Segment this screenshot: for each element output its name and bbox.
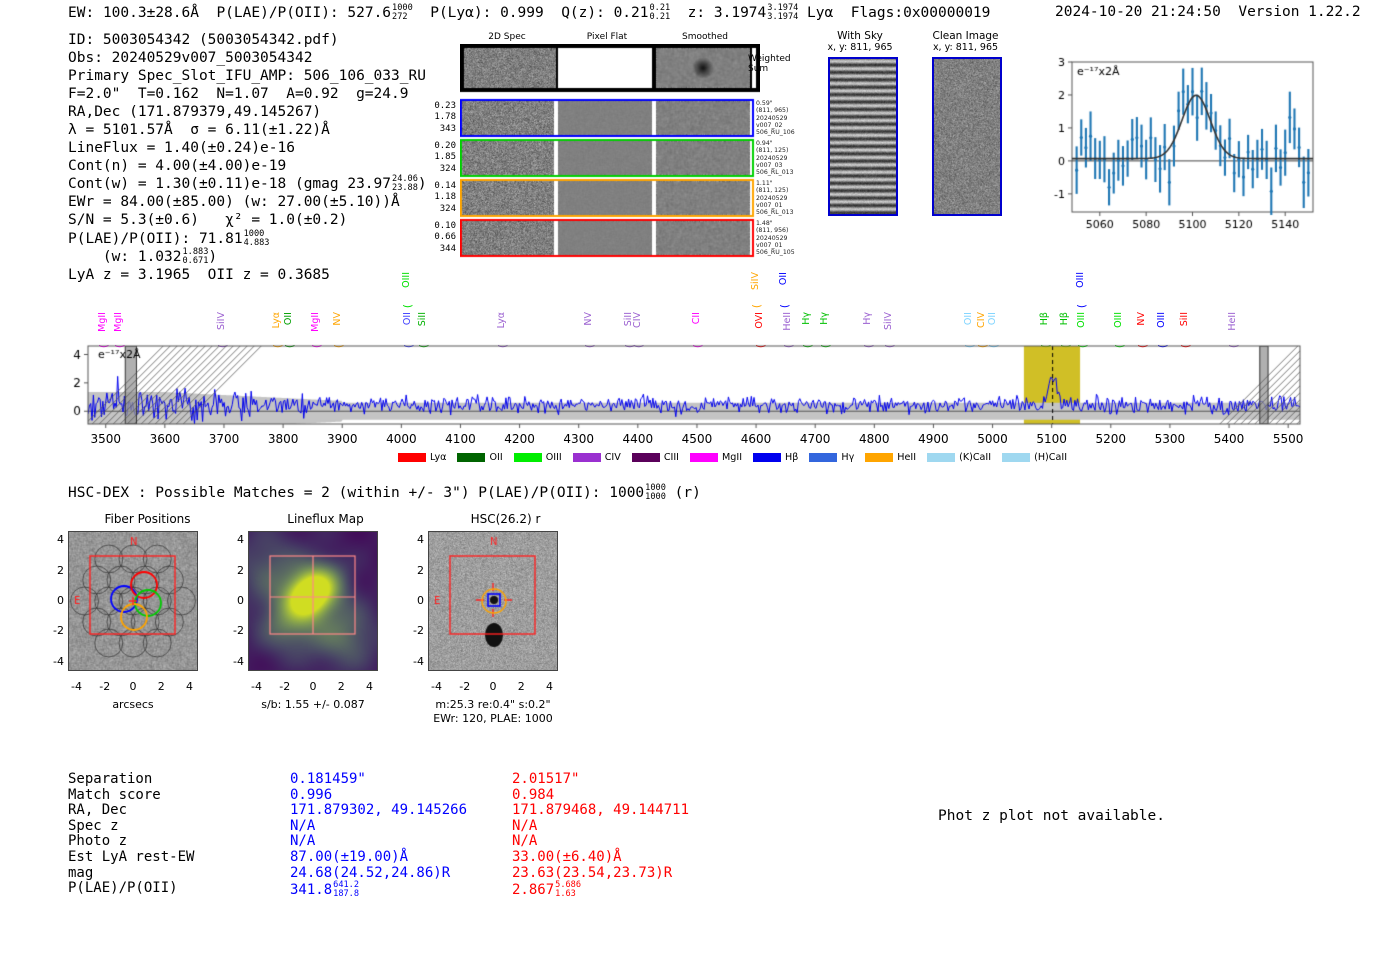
spectrum-xtick: 5300 <box>1146 432 1194 446</box>
match2-value: 0.984 <box>512 788 812 804</box>
qz-label: Q(z): <box>561 5 605 21</box>
emission-line-label: SiIV <box>216 312 227 330</box>
param-ewr: EWr = 84.00(±85.00) (w: 27.00(±5.10))Å <box>68 193 427 211</box>
table-row: Separation0.181459"2.01517" <box>68 772 812 788</box>
legend-label: Hβ <box>785 452 798 463</box>
match-table: Separation0.181459"2.01517"Match score0.… <box>68 772 812 897</box>
clean-image <box>932 57 1002 216</box>
emission-line-label: OII <box>987 312 998 325</box>
spectrum-xtick: 5400 <box>1205 432 1253 446</box>
caption-arcsecs: arcsecs <box>68 698 198 711</box>
emission-line-label: Hγ <box>801 312 812 325</box>
image-xtick: 4 <box>536 680 564 693</box>
fiber-left-values: 0.141.18324 <box>422 181 456 215</box>
z-label: z: <box>688 5 705 21</box>
param-plae-close: ) <box>208 249 217 265</box>
legend-item: Lyα <box>398 452 446 463</box>
image-xtick: -2 <box>91 680 119 693</box>
plya-value: 0.999 <box>500 5 544 21</box>
param-sn: S/N = 5.3(±0.6) χ² = 1.0(±0.2) <box>68 211 427 229</box>
emission-line-label: OIII <box>1076 312 1087 328</box>
match1-value: 0.181459" <box>290 772 512 788</box>
emission-line-label: MgII <box>97 312 108 332</box>
param-plae-lower: 4.883 <box>244 239 270 248</box>
spec2d-image-strips <box>460 44 760 259</box>
ew-value: 100.3±28.6Å <box>103 5 199 21</box>
legend-label: MgII <box>722 452 742 463</box>
match1-value: 0.996 <box>290 788 512 804</box>
legend-item: (K)CaII <box>927 452 991 463</box>
legend-item: OIII <box>514 452 562 463</box>
spec2d-title-2dspec: 2D Spec <box>460 32 554 42</box>
legend-label: CIII <box>664 452 679 463</box>
image-ytick: -4 <box>406 655 424 668</box>
plya-label: P(Lyα): <box>430 5 491 21</box>
emission-line-label: SiII <box>1179 312 1190 326</box>
emission-line-label: OIII <box>1156 312 1167 328</box>
emission-line-label: MgII <box>310 312 321 332</box>
match2-plae: 2.8675.6861.63 <box>512 881 812 899</box>
legend-label: OIII <box>546 452 562 463</box>
match2-value: 23.63(23.54,23.73)R <box>512 866 812 882</box>
fiber-left-values: 0.201.85324 <box>422 141 456 175</box>
legend-swatch <box>753 453 781 462</box>
image-ytick: -4 <box>46 655 64 668</box>
spectrum-xtick: 5200 <box>1087 432 1135 446</box>
timestamp: 2024-10-20 21:24:50 <box>1055 4 1221 20</box>
spec2d-block: 2D Spec Pixel Flat Smoothed Weighted Sum… <box>460 32 760 262</box>
legend-swatch <box>514 453 542 462</box>
image-xtick: 4 <box>176 680 204 693</box>
legend-label: OII <box>489 452 502 463</box>
legend-label: CIV <box>605 452 621 463</box>
hsc-r-image <box>428 531 558 671</box>
param-plae-text: P(LAE)/P(OII): 71.81 <box>68 231 243 247</box>
table-row: Photo zN/AN/A <box>68 834 812 850</box>
legend-item: CIV <box>573 452 621 463</box>
emission-line-label: OVI <box>754 312 765 329</box>
image-ytick: -2 <box>226 624 244 637</box>
legend-swatch <box>573 453 601 462</box>
spectrum-xtick: 4700 <box>791 432 839 446</box>
spectrum-xtick: 5500 <box>1264 432 1312 446</box>
image-xtick: 2 <box>327 680 355 693</box>
fiber-positions-image <box>68 531 198 671</box>
legend-swatch <box>1002 453 1030 462</box>
spectrum-xtick: 3800 <box>259 432 307 446</box>
param-radec: RA,Dec (171.879379,49.145267) <box>68 103 427 121</box>
emission-line-label: NV <box>583 312 594 326</box>
emission-line-label: CIV <box>976 312 987 328</box>
match-row-label: mag <box>68 866 290 882</box>
match2-value: N/A <box>512 819 812 835</box>
match1-plae: 341.8641.2187.8 <box>290 881 512 899</box>
image-xtick: 2 <box>147 680 175 693</box>
image-xtick: -2 <box>451 680 479 693</box>
match1-value: 24.68(24.52,24.86)R <box>290 866 512 882</box>
param-seeing: F=2.0" T=0.162 N=1.07 A=0.92 g=24.9 <box>68 85 427 103</box>
parameter-block: ID: 5003054342 (5003054342.pdf) Obs: 202… <box>68 31 427 284</box>
qz-lower: 0.21 <box>650 13 671 22</box>
hscdex-plae-lower: 1000 <box>645 493 666 502</box>
legend-label: Hγ <box>841 452 854 463</box>
match1-value: 171.879302, 49.145266 <box>290 803 512 819</box>
match2-value: N/A <box>512 834 812 850</box>
image-ytick: 2 <box>46 564 64 577</box>
legend-swatch <box>632 453 660 462</box>
image-xtick: 4 <box>356 680 384 693</box>
param-obs: Obs: 20240529v007_5003054342 <box>68 49 427 67</box>
spectrum-xtick: 4900 <box>909 432 957 446</box>
param-cont-w-lower: 23.88 <box>392 184 418 193</box>
image-ytick: 4 <box>226 533 244 546</box>
spec2d-title-pixelflat: Pixel Flat <box>560 32 654 42</box>
emission-line-label: Hβ <box>1039 312 1050 325</box>
table-row: mag24.68(24.52,24.86)R23.63(23.54,23.73)… <box>68 866 812 882</box>
spectrum-xtick: 4400 <box>614 432 662 446</box>
cutout-title-clean-image: Clean Image x, y: 811, 965 <box>923 30 1008 54</box>
match2-value: 33.00(±6.40)Å <box>512 850 812 866</box>
param-cont-n: Cont(n) = 4.00(±4.00)e-19 <box>68 157 427 175</box>
cutout-title-with-sky: With Sky x, y: 811, 965 <box>820 30 900 54</box>
header-summary-line: EW: 100.3±28.6Å P(LAE)/P(OII): 527.61000… <box>68 4 990 22</box>
image-ytick: 0 <box>46 594 64 607</box>
image-xtick: -4 <box>62 680 90 693</box>
legend-swatch <box>927 453 955 462</box>
caption-lineflux-sb: s/b: 1.55 +/- 0.087 <box>233 698 393 711</box>
legend-swatch <box>865 453 893 462</box>
table-row-plae: P(LAE)/P(OII)341.8641.2187.82.8675.6861.… <box>68 881 812 897</box>
fiber-meta-labels: 1.48"(811, 956)20240529v007_01506_RU_105 <box>756 220 816 256</box>
fiber-meta-labels: 1.11"(811, 125)20240529v007_01506_RL_013 <box>756 180 816 216</box>
flags-value: Flags:0x00000019 <box>851 5 991 21</box>
param-plae-w-lower: 0.671 <box>183 257 209 266</box>
image-xtick: 0 <box>479 680 507 693</box>
qz-value: 0.21 <box>614 5 649 21</box>
line-profile-plot <box>1030 52 1320 252</box>
match-row-label: Est LyA rest-EW <box>68 850 290 866</box>
param-cont-w-text: Cont(w) = 1.30(±0.11)e-18 (gmag 23.97 <box>68 176 391 192</box>
legend-swatch <box>690 453 718 462</box>
param-cont-w: Cont(w) = 1.30(±0.11)e-18 (gmag 23.9724.… <box>68 175 427 193</box>
param-plae: P(LAE)/P(OII): 71.8110004.883 (w: 1.0321… <box>68 230 427 266</box>
legend-swatch <box>809 453 837 462</box>
image-ytick: 4 <box>406 533 424 546</box>
lineflux-map-image <box>248 531 378 671</box>
legend-label: (H)CaII <box>1034 452 1067 463</box>
emission-line-label: OIII <box>1075 272 1086 288</box>
hscdex-header-text: HSC-DEX : Possible Matches = 2 (within +… <box>68 485 644 501</box>
panel-title-lineflux-map: Lineflux Map <box>238 512 413 526</box>
param-lineflux: LineFlux = 1.40(±0.24)e-16 <box>68 139 427 157</box>
emission-line-brace: ( <box>778 304 791 308</box>
image-ytick: 2 <box>406 564 424 577</box>
spectrum-xtick: 3600 <box>141 432 189 446</box>
legend-item: OII <box>457 452 502 463</box>
legend-swatch <box>457 453 485 462</box>
weighted-sum-label: Weighted Sum <box>748 54 791 74</box>
param-lambda: λ = 5101.57Å σ = 6.11(±1.22)Å <box>68 121 427 139</box>
spectrum-xtick: 4800 <box>850 432 898 446</box>
legend-item: HeII <box>865 452 916 463</box>
match1-value: 87.00(±19.00)Å <box>290 850 512 866</box>
spectrum-xtick: 5000 <box>969 432 1017 446</box>
emission-line-label: NV <box>1136 312 1147 326</box>
emission-line-label: NV <box>332 312 343 326</box>
emission-line-label: HeII <box>782 312 793 331</box>
match1-value: N/A <box>290 834 512 850</box>
emission-line-label: Hγ <box>819 312 830 325</box>
caption-hsc-ewr: EWr: 120, PLAE: 1000 <box>418 712 568 725</box>
emission-line-label: SiIV <box>883 312 894 330</box>
spectrum-xtick: 4500 <box>673 432 721 446</box>
image-ytick: 2 <box>226 564 244 577</box>
spec2d-title-smoothed: Smoothed <box>658 32 752 42</box>
emission-line-label: OIII <box>1113 312 1124 328</box>
image-ytick: 0 <box>406 594 424 607</box>
image-ytick: 0 <box>226 594 244 607</box>
emission-line-label: HeII <box>1227 312 1238 331</box>
emission-line-label: Hβ <box>1059 312 1070 325</box>
emission-line-label: MgII <box>113 312 124 332</box>
match1-value: N/A <box>290 819 512 835</box>
hscdex-header-filter: (r) <box>675 485 701 501</box>
match-row-label: Match score <box>68 788 290 804</box>
hscdex-header: HSC-DEX : Possible Matches = 2 (within +… <box>68 484 701 502</box>
image-xtick: 0 <box>299 680 327 693</box>
emission-line-label: OII <box>283 312 294 325</box>
ew-label: EW: <box>68 5 94 21</box>
legend-label: Lyα <box>430 452 446 463</box>
spectrum-xtick: 5100 <box>1028 432 1076 446</box>
plae-value: 527.6 <box>347 5 391 21</box>
spectrum-xtick: 4200 <box>496 432 544 446</box>
emission-line-label: Hγ <box>862 312 873 325</box>
emission-line-label: OII <box>778 272 789 285</box>
emission-line-label: OIII <box>401 272 412 288</box>
match-row-label: Separation <box>68 772 290 788</box>
image-ytick: -2 <box>406 624 424 637</box>
image-xtick: -4 <box>422 680 450 693</box>
header-timestamp-block: 2024-10-20 21:24:50 Version 1.22.2 <box>1055 4 1361 20</box>
image-ytick: -2 <box>46 624 64 637</box>
image-ytick: -4 <box>226 655 244 668</box>
plae-lower: 272 <box>392 13 413 22</box>
legend-item: (H)CaII <box>1002 452 1067 463</box>
table-row: RA, Dec171.879302, 49.145266171.879468, … <box>68 803 812 819</box>
emission-line-label: Lyα <box>496 312 507 328</box>
image-xtick: 0 <box>119 680 147 693</box>
emission-line-label: OII <box>402 312 413 325</box>
param-slot: Primary Spec_Slot_IFU_AMP: 506_106_033_R… <box>68 67 427 85</box>
emission-line-label: OII <box>963 312 974 325</box>
panel-title-fiber-positions: Fiber Positions <box>60 512 235 526</box>
version: Version 1.22.2 <box>1238 4 1360 20</box>
match2-value: 2.01517" <box>512 772 812 788</box>
caption-hsc-metrics: m:25.3 re:0.4" s:0.2" <box>418 698 568 711</box>
legend-label: (K)CaII <box>959 452 991 463</box>
legend-label: HeII <box>897 452 916 463</box>
table-row: Match score0.9960.984 <box>68 788 812 804</box>
fiber-left-values: 0.231.78343 <box>422 101 456 135</box>
table-row: Spec zN/AN/A <box>68 819 812 835</box>
legend-item: Hγ <box>809 452 854 463</box>
emission-line-brace: ( <box>750 304 763 308</box>
spectrum-xtick: 3900 <box>318 432 366 446</box>
match2-value: 171.879468, 49.144711 <box>512 803 812 819</box>
emission-line-brace: ( <box>1075 304 1088 308</box>
legend-item: Hβ <box>753 452 798 463</box>
emission-line-label: SiII <box>417 312 428 326</box>
spectrum-xtick: 4300 <box>555 432 603 446</box>
match-row-label: P(LAE)/P(OII) <box>68 881 290 897</box>
with-sky-image <box>828 57 898 216</box>
image-xtick: 2 <box>507 680 535 693</box>
image-ytick: 4 <box>46 533 64 546</box>
line-profile-canvas <box>1030 52 1320 252</box>
param-plae-weighted: (w: 1.032 <box>103 249 182 265</box>
z-value: 3.1974 <box>714 5 766 21</box>
plae-label: P(LAE)/P(OII): <box>216 5 338 21</box>
spectrum-legend: LyαOIIOIIICIVCIIIMgIIHβHγHeII(K)CaII(H)C… <box>398 452 1067 463</box>
match-row-label: RA, Dec <box>68 803 290 819</box>
table-row: Est LyA rest-EW87.00(±19.00)Å33.00(±6.40… <box>68 850 812 866</box>
spectrum-xtick: 3700 <box>200 432 248 446</box>
emission-line-label: CIV <box>632 312 643 328</box>
emission-line-brace: ( <box>401 304 414 308</box>
image-xtick: -4 <box>242 680 270 693</box>
full-spectrum-plot: OIII(SiIV(OII(OIII(MgII(MgII(SiIV(Lyα(OI… <box>0 268 1400 468</box>
z-lower: 3.1974 <box>767 13 798 22</box>
match-row-label: Spec z <box>68 819 290 835</box>
emission-line-label: SiIV <box>750 272 761 290</box>
fiber-meta-labels: 0.59"(811, 965)20240529v007_02506_RU_106 <box>756 100 816 136</box>
emission-line-label: CII <box>691 312 702 324</box>
emission-line-label: Lyα <box>271 312 282 328</box>
match-row-label: Photo z <box>68 834 290 850</box>
legend-swatch <box>398 453 426 462</box>
image-xtick: -2 <box>271 680 299 693</box>
panel-title-hsc-r: HSC(26.2) r <box>418 512 593 526</box>
legend-item: MgII <box>690 452 742 463</box>
fiber-left-values: 0.100.66344 <box>422 221 456 255</box>
photz-note: Phot z plot not available. <box>938 808 1165 824</box>
spectrum-xtick: 4100 <box>436 432 484 446</box>
z-line-name: Lyα <box>807 5 833 21</box>
spectrum-xtick: 4600 <box>732 432 780 446</box>
fiber-meta-labels: 0.94"(811, 125)20240529v007_03506_RL_013 <box>756 140 816 176</box>
legend-item: CIII <box>632 452 679 463</box>
param-id: ID: 5003054342 (5003054342.pdf) <box>68 31 427 49</box>
spectrum-xtick: 3500 <box>82 432 130 446</box>
spectrum-xtick: 4000 <box>377 432 425 446</box>
